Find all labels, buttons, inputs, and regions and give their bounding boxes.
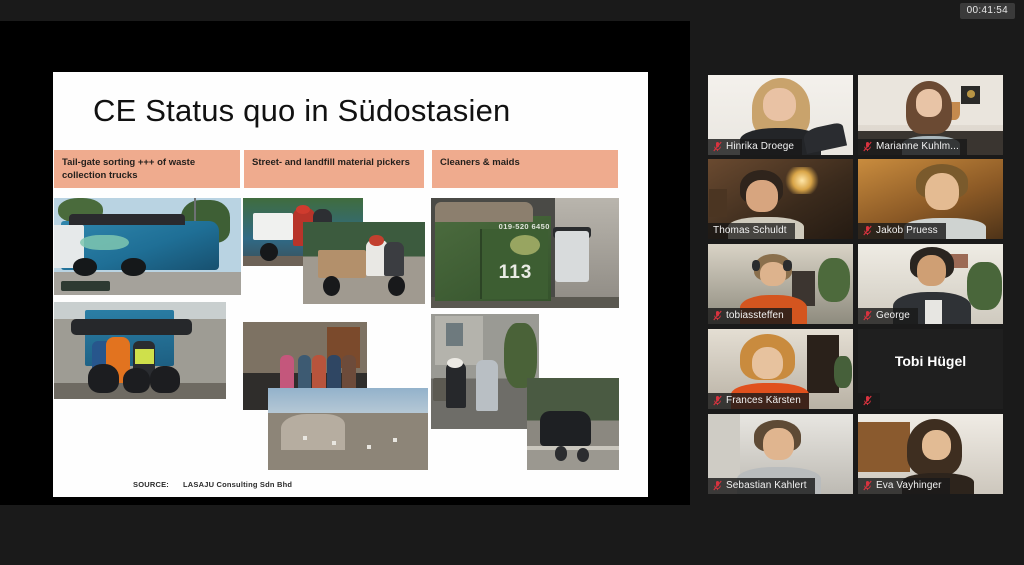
column-header-tailgate-sorting: Tail-gate sorting +++ of waste collectio… [54, 150, 240, 188]
participant-tile-frances-kaersten[interactable]: Frances Kärsten [708, 329, 853, 409]
presentation-slide: CE Status quo in Südostasien Tail-gate s… [53, 72, 648, 497]
mic-muted-icon [713, 480, 722, 491]
participant-namebar: Sebastian Kahlert [708, 478, 815, 494]
slide-source-line: SOURCE:LASAJU Consulting Sdn Bhd [133, 480, 292, 489]
photo-street-workers [431, 314, 539, 429]
zoom-meeting-window: 00:41:54 CE Status quo in Südostasien Ta… [0, 0, 1024, 565]
meeting-timer: 00:41:54 [960, 3, 1015, 19]
participant-name: tobiassteffen [726, 310, 784, 321]
mic-muted-icon [863, 141, 872, 152]
participant-tile-eva-vayhinger[interactable]: Eva Vayhinger [858, 414, 1003, 494]
participant-name: Frances Kärsten [726, 395, 801, 406]
participant-name: Thomas Schuldt [713, 225, 787, 236]
participant-namebar: Marianne Kuhlm... [858, 139, 967, 155]
participant-tile-sebastian-kahlert[interactable]: Sebastian Kahlert [708, 414, 853, 494]
participant-tile-tobiassteffen[interactable]: tobiassteffen [708, 244, 853, 324]
photo-truck-rear-workers [54, 302, 226, 399]
participant-namebar: Jakob Pruess [858, 223, 946, 239]
participant-name: Hinrika Droege [726, 141, 794, 152]
participant-video-strip: Hinrika Droege Marianne Kuhlm... [700, 75, 1012, 500]
participant-name: Marianne Kuhlm... [876, 141, 959, 152]
participant-name: Eva Vayhinger [876, 480, 942, 491]
participant-tile-george[interactable]: George [858, 244, 1003, 324]
photo-green-dumpster: 019-520 6450 113 [431, 198, 619, 308]
participant-namebar: tobiassteffen [708, 308, 792, 324]
participant-namebar [858, 393, 880, 409]
participant-name: George [876, 310, 910, 321]
column-header-cleaners-maids: Cleaners & maids [432, 150, 618, 188]
mic-muted-icon [863, 480, 872, 491]
participant-namebar: Eva Vayhinger [858, 478, 950, 494]
participant-name: Jakob Pruess [876, 225, 938, 236]
slide-title: CE Status quo in Südostasien [93, 93, 510, 129]
photo-cart-with-bags [527, 378, 619, 470]
participant-tile-thomas-schuldt[interactable]: Thomas Schuldt [708, 159, 853, 239]
source-value: LASAJU Consulting Sdn Bhd [183, 480, 292, 489]
mic-muted-icon [713, 395, 722, 406]
mic-muted-icon [863, 395, 872, 406]
participant-namebar: George [858, 308, 918, 324]
photo-garbage-truck [54, 198, 241, 295]
slide-column-headers: Tail-gate sorting +++ of waste collectio… [53, 150, 648, 190]
participant-tile-jakob-pruess[interactable]: Jakob Pruess [858, 159, 1003, 239]
slide-photo-collage: 019-520 6450 113 [53, 196, 648, 481]
dumpster-phone-number: 019-520 6450 [499, 222, 550, 231]
participant-tile-tobi-huegel[interactable]: Tobi Hügel [858, 329, 1003, 409]
participant-namebar: Hinrika Droege [708, 139, 802, 155]
dumpster-number: 113 [499, 262, 533, 284]
source-label: SOURCE: [133, 480, 169, 489]
mic-muted-icon [863, 225, 872, 236]
participant-namebar: Thomas Schuldt [708, 223, 795, 239]
participant-namebar: Frances Kärsten [708, 393, 809, 409]
column-header-material-pickers: Street- and landfill material pickers [244, 150, 424, 188]
mic-muted-icon [713, 310, 722, 321]
shared-screen-stage[interactable]: CE Status quo in Südostasien Tail-gate s… [0, 21, 690, 505]
mic-muted-icon [863, 310, 872, 321]
photo-landfill [268, 388, 428, 470]
participant-name-large: Tobi Hügel [858, 353, 1003, 369]
mic-muted-icon [713, 141, 722, 152]
participant-name: Sebastian Kahlert [726, 480, 807, 491]
participant-tile-marianne-kuhlmann[interactable]: Marianne Kuhlm... [858, 75, 1003, 155]
photo-motorbike-cardboard-load [303, 222, 425, 304]
participant-tile-hinrika-droege[interactable]: Hinrika Droege [708, 75, 853, 155]
